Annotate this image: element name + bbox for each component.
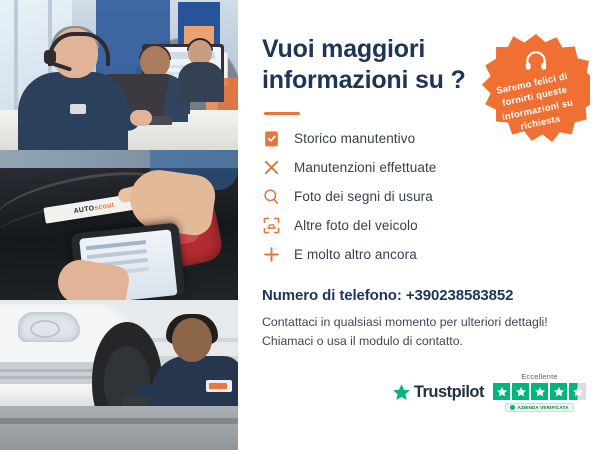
contact-subtext-line2: Chiamaci o usa il modulo di contatto. [262, 332, 578, 351]
star-half [569, 383, 586, 400]
list-item-label: Manutenzioni effettuate [294, 160, 436, 175]
headset-icon [523, 48, 549, 74]
star-filled [512, 383, 529, 400]
contact-subtext-line1: Contattaci in qualsiasi momento per ulte… [262, 313, 578, 332]
star-filled [550, 383, 567, 400]
trustpilot-rating[interactable]: Trustpilot Eccellente AZIENDA VERIFICATA [392, 372, 586, 412]
info-on-request-badge: Saremo felici di fornirti queste informa… [482, 34, 590, 142]
verified-company-badge: AZIENDA VERIFICATA [505, 403, 573, 412]
list-item-label: Altre foto del veicolo [294, 218, 418, 233]
verified-check-icon [510, 405, 515, 410]
contact-subtext: Contattaci in qualsiasi momento per ulte… [262, 313, 578, 351]
star-filled [493, 383, 510, 400]
list-item-label: Storico manutentivo [294, 131, 415, 146]
car-scan-frame-icon [262, 216, 281, 235]
star-filled [531, 383, 548, 400]
photo-call-center-agent-with-headset [0, 0, 238, 150]
advert-banner: AUTOscout Vuoi maggiori informazioni s [0, 0, 600, 450]
list-item-molto-altro: E molto altro ancora [262, 245, 578, 264]
list-item-label: Foto dei segni di usura [294, 189, 433, 204]
page-title: Vuoi maggiori informazioni su ? [262, 34, 477, 96]
trustpilot-logo: Trustpilot [392, 383, 484, 402]
list-item-label: E molto altro ancora [294, 247, 417, 262]
photo-technician-applying-label-to-car: AUTOscout [0, 150, 238, 300]
photo-mechanic-inspecting-wheel-on-lift [0, 300, 238, 450]
plus-icon [262, 245, 281, 264]
verified-label: AZIENDA VERIFICATA [517, 405, 568, 410]
rating-label: Eccellente [521, 372, 558, 381]
photo-column: AUTOscout [0, 0, 238, 450]
feature-list: Storico manutentivo Manutenzioni effettu… [262, 129, 578, 264]
title-underline-rule [264, 112, 300, 115]
list-item-altre-foto-veicolo: Altre foto del veicolo [262, 216, 578, 235]
list-item-foto-segni-usura: Foto dei segni di usura [262, 187, 578, 206]
list-item-manutenzioni-effettuate: Manutenzioni effettuate [262, 158, 578, 177]
content-panel: Vuoi maggiori informazioni su ? Storico … [238, 0, 600, 450]
star-rating [493, 383, 586, 400]
trustpilot-wordmark: Trustpilot [414, 383, 484, 402]
magnifier-icon [262, 187, 281, 206]
trustpilot-star-icon [392, 383, 411, 402]
rating-block: Eccellente AZIENDA VERIFICATA [493, 372, 586, 412]
crossed-tools-icon [262, 158, 281, 177]
clipboard-check-icon [262, 129, 281, 148]
phone-number[interactable]: Numero di telefono: +390238583852 [262, 287, 578, 304]
